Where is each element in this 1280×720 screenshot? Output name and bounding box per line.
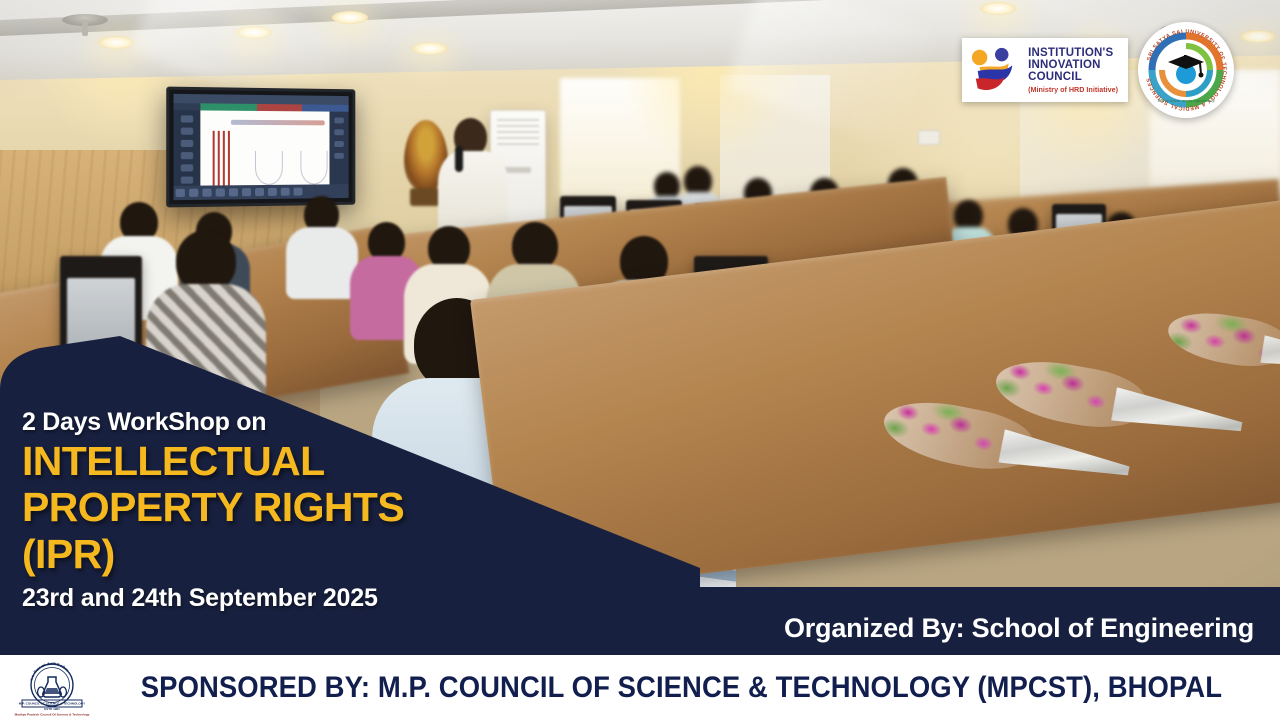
app-right-rail: [330, 112, 349, 185]
title-line-3: (IPR): [22, 533, 404, 576]
institutions-innovation-council-logo: INSTITUTION'S INNOVATION COUNCIL (Minist…: [962, 38, 1128, 102]
iic-mark-icon: [970, 44, 1020, 96]
event-dates: 23rd and 24th September 2025: [22, 584, 404, 613]
university-tagline: Where talent meets opportunity: [1157, 98, 1216, 103]
display-screen: [174, 94, 349, 200]
mpcst-emblem-logo: म.प्र. विज्ञान एवं प्रौद्योगिकी परिषद M.…: [6, 659, 98, 717]
organized-by-text: Organized By: School of Engineering: [784, 613, 1254, 644]
downlight-icon: [1240, 30, 1276, 43]
slide-canvas: [200, 110, 329, 185]
iic-line-3: COUNCIL: [1028, 71, 1118, 83]
mpcst-ring-text: M.P. COUNCIL OF SCIENCE & TECHNOLOGY: [19, 701, 86, 705]
ceiling-fan-icon: [62, 14, 108, 26]
title-kicker: 2 Days WorkShop on: [22, 408, 404, 437]
attendee: [286, 196, 358, 292]
event-poster: INSTITUTION'S INNOVATION COUNCIL (Minist…: [0, 0, 1280, 720]
mpcst-caption: Madhya Pradesh Council Of Science & Tech…: [15, 712, 90, 716]
wall-display: [166, 87, 355, 208]
downlight-icon: [980, 2, 1016, 15]
title-line-2: PROPERTY RIGHTS: [22, 486, 404, 529]
sponsor-text: SPONSORED BY: M.P. COUNCIL OF SCIENCE & …: [141, 671, 1278, 705]
downlight-icon: [98, 36, 134, 49]
speaker-presenter: [438, 118, 508, 238]
wall-socket: [918, 130, 940, 145]
title-block: 2 Days WorkShop on INTELLECTUAL PROPERTY…: [22, 408, 404, 613]
sri-satya-sai-university-logo: SRI SATYA SAI UNIVERSITY OF TECHNOLOGY &…: [1138, 22, 1234, 118]
app-left-sidebar: [174, 110, 201, 186]
logo-group: INSTITUTION'S INNOVATION COUNCIL (Minist…: [962, 22, 1234, 118]
downlight-icon: [332, 11, 368, 24]
iic-line-2: INNOVATION: [1028, 59, 1118, 71]
sponsor-footer: म.प्र. विज्ञान एवं प्रौद्योगिकी परिषद M.…: [0, 655, 1280, 720]
mpcst-ribbon: ESTD 1981: [44, 707, 60, 711]
title-line-1: INTELLECTUAL: [22, 440, 404, 483]
iic-line-1: INSTITUTION'S: [1028, 47, 1118, 59]
iic-subtitle: (Ministry of HRD Initiative): [1028, 86, 1118, 94]
iic-text-block: INSTITUTION'S INNOVATION COUNCIL (Minist…: [1028, 47, 1118, 94]
microphone-icon: [455, 146, 463, 172]
downlight-icon: [412, 42, 448, 55]
slide-title-text: [231, 120, 325, 126]
